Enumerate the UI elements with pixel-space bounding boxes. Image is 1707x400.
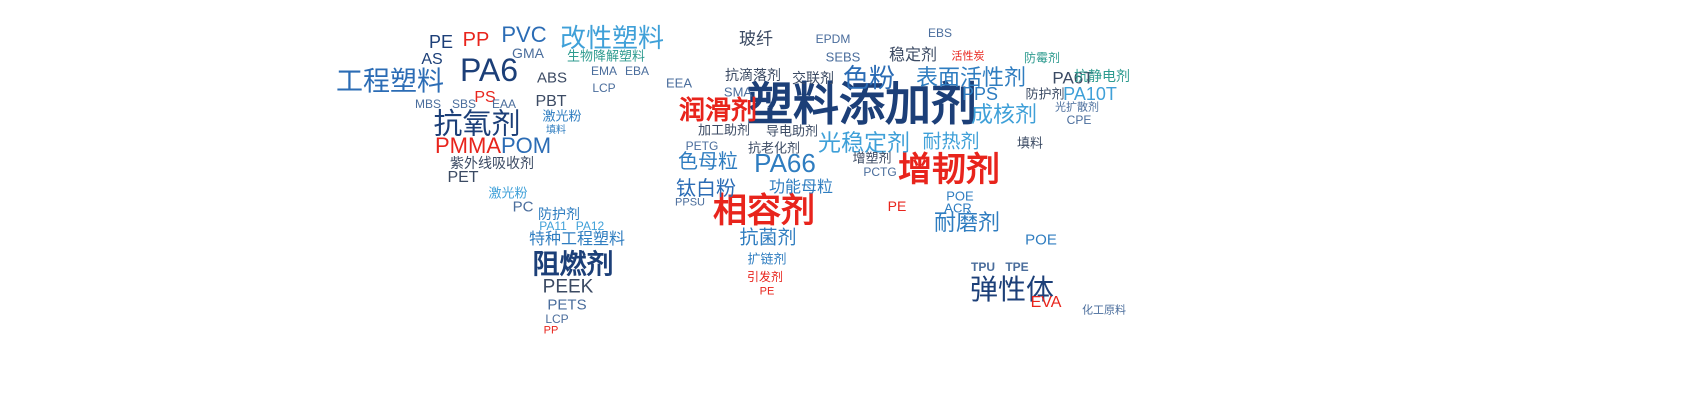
wordcloud-word[interactable]: PA12 [576, 220, 604, 232]
wordcloud-word[interactable]: 增塑剂 [852, 152, 891, 165]
wordcloud-word[interactable]: 抗滴落剂 [725, 68, 781, 82]
wordcloud-word[interactable]: EVA [1031, 295, 1062, 311]
wordcloud-word[interactable]: 防护剂 [538, 207, 580, 221]
wordcloud-word[interactable]: 填料 [1017, 137, 1043, 150]
wordcloud-word[interactable]: PMMA [435, 135, 501, 157]
wordcloud-word[interactable]: LCP [545, 313, 568, 325]
wordcloud-word[interactable]: PC [513, 200, 534, 215]
wordcloud-word[interactable]: EBA [625, 65, 649, 77]
wordcloud-word[interactable]: EPDM [816, 33, 851, 45]
wordcloud-word[interactable]: 交联剂 [792, 71, 834, 85]
wordcloud-word[interactable]: 耐热剂 [922, 133, 979, 152]
wordcloud-word[interactable]: LCP [592, 82, 615, 94]
wordcloud-word[interactable]: EAA [492, 98, 516, 110]
wordcloud-word[interactable]: 增韧剂 [898, 153, 1000, 187]
wordcloud-word[interactable]: 功能母粒 [769, 180, 833, 196]
wordcloud-word[interactable]: CPE [1067, 114, 1092, 126]
wordcloud-word[interactable]: 加工助剂 [698, 124, 750, 137]
wordcloud-word[interactable]: PP [544, 326, 559, 337]
wordcloud-word[interactable]: PETG [686, 140, 719, 152]
wordcloud-word[interactable]: 色粉 [843, 65, 895, 91]
wordcloud-word[interactable]: 润滑剂 [679, 97, 757, 123]
wordcloud-word[interactable]: PPS [962, 85, 998, 103]
wordcloud-canvas: 塑料添加剂相容剂增韧剂润滑剂工程塑料抗氧剂阻燃剂弹性体改性塑料色粉表面活性剂光稳… [0, 0, 1707, 400]
wordcloud-word[interactable]: 导电助剂 [766, 125, 818, 138]
wordcloud-word[interactable]: 激光粉 [542, 110, 581, 123]
wordcloud-word[interactable]: 防护剂 [1025, 88, 1064, 101]
wordcloud-word[interactable]: PPSU [675, 198, 705, 209]
wordcloud-word[interactable]: 阻燃剂 [533, 252, 614, 279]
wordcloud-word[interactable]: SBS [452, 98, 476, 110]
wordcloud-word[interactable]: POE [1025, 233, 1057, 248]
wordcloud-word[interactable]: SMA [724, 86, 752, 99]
wordcloud-word[interactable]: SEBS [826, 51, 861, 64]
wordcloud-word[interactable]: 紫外线吸收剂 [450, 156, 534, 170]
wordcloud-word[interactable]: 扩链剂 [747, 253, 786, 266]
wordcloud-word[interactable]: 生物降解塑料 [567, 50, 645, 63]
wordcloud-word[interactable]: 化工原料 [1082, 306, 1126, 317]
wordcloud-word[interactable]: PE [760, 287, 775, 298]
wordcloud-word[interactable]: 成核剂 [971, 104, 1037, 126]
wordcloud-word[interactable]: PE [888, 199, 907, 213]
wordcloud-word[interactable]: EEA [666, 77, 692, 90]
wordcloud-word[interactable]: PVC [501, 24, 546, 46]
wordcloud-word[interactable]: 抗老化剂 [748, 142, 800, 155]
wordcloud-word[interactable]: PA6 [460, 54, 518, 86]
wordcloud-word[interactable]: 特种工程塑料 [529, 232, 625, 248]
wordcloud-word[interactable]: 抗菌剂 [739, 229, 796, 248]
wordcloud-word[interactable]: 改性塑料 [560, 25, 664, 51]
wordcloud-word[interactable]: TPU [971, 261, 995, 273]
wordcloud-word[interactable]: 光扩散剂 [1055, 103, 1099, 114]
wordcloud-word[interactable]: ACR [944, 202, 971, 215]
wordcloud-word[interactable]: PA10T [1063, 85, 1117, 103]
wordcloud-word[interactable]: 填料 [546, 126, 566, 136]
wordcloud-word[interactable]: 色母粒 [678, 152, 738, 172]
wordcloud-word[interactable]: 激光粉 [488, 187, 527, 200]
wordcloud-word[interactable]: 引发剂 [747, 271, 783, 283]
wordcloud-word[interactable]: EBS [928, 27, 952, 39]
wordcloud-word[interactable]: POM [501, 135, 551, 157]
wordcloud-word[interactable]: TPE [1005, 261, 1028, 273]
wordcloud-word[interactable]: GMA [512, 46, 544, 60]
wordcloud-word[interactable]: MBS [415, 98, 441, 110]
wordcloud-word[interactable]: 工程塑料 [336, 69, 444, 96]
wordcloud-word[interactable]: PEEK [543, 278, 594, 297]
wordcloud-word[interactable]: PP [463, 30, 490, 50]
wordcloud-word[interactable]: PET [447, 170, 478, 186]
wordcloud-word[interactable]: ABS [537, 71, 567, 86]
wordcloud-word[interactable]: AS [421, 52, 442, 68]
wordcloud-word[interactable]: EMA [591, 65, 617, 77]
wordcloud-word[interactable]: 玻纤 [739, 31, 773, 48]
wordcloud-word[interactable]: 抗静电剂 [1074, 69, 1130, 83]
wordcloud-word[interactable]: PETS [547, 298, 586, 313]
wordcloud-word[interactable]: 稳定剂 [889, 48, 937, 64]
wordcloud-word[interactable]: PCTG [863, 166, 896, 178]
wordcloud-word[interactable]: 活性炭 [952, 52, 985, 63]
wordcloud-word[interactable]: PE [429, 33, 453, 51]
wordcloud-word[interactable]: 防霉剂 [1024, 52, 1060, 64]
